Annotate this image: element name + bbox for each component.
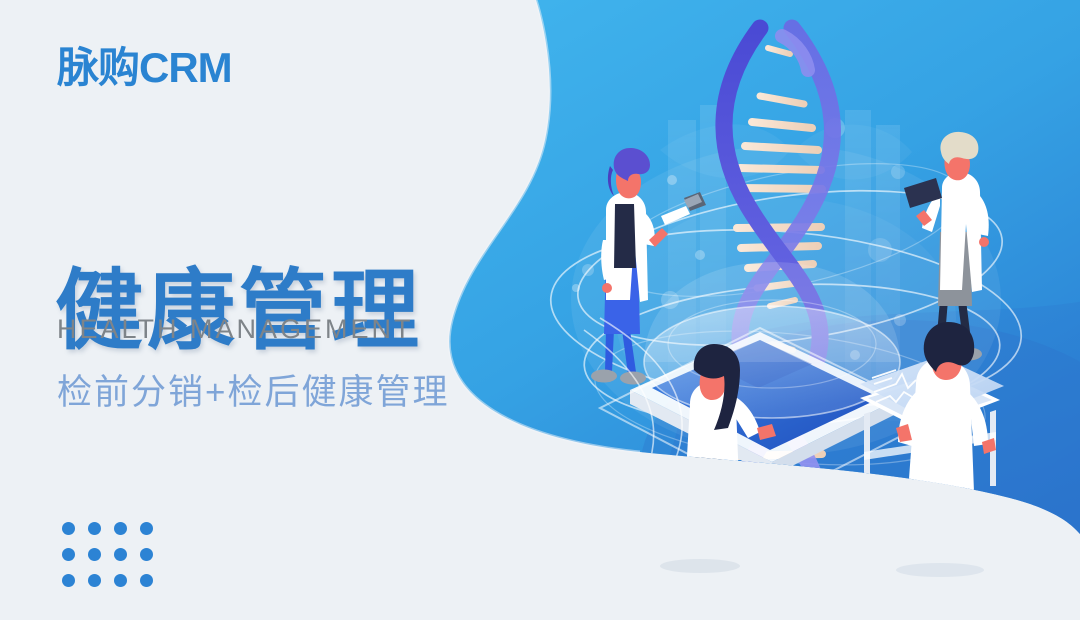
decoration-dot [114, 574, 127, 587]
decoration-dot [62, 548, 75, 561]
text-column: 脉购CRM 健康管理 HEALTH MANAGEMENT 检前分销+检后健康管理 [0, 0, 540, 620]
decoration-dot [62, 574, 75, 587]
brand-logo[interactable]: 脉购CRM [57, 47, 232, 89]
subtitle-english: HEALTH MANAGEMENT [57, 316, 414, 343]
decoration-dot [88, 574, 101, 587]
decoration-dot [88, 522, 101, 535]
decoration-dot [114, 548, 127, 561]
decoration-dot [88, 548, 101, 561]
health-management-banner: 脉购CRM 健康管理 HEALTH MANAGEMENT 检前分销+检后健康管理 [0, 0, 1080, 620]
subtitle-chinese: 检前分销+检后健康管理 [57, 375, 449, 410]
decoration-dot [140, 522, 153, 535]
decoration-dot [62, 522, 75, 535]
decoration-dot [140, 574, 153, 587]
decoration-dot [114, 522, 127, 535]
dot-grid-decoration [62, 522, 153, 587]
decoration-dot [140, 548, 153, 561]
